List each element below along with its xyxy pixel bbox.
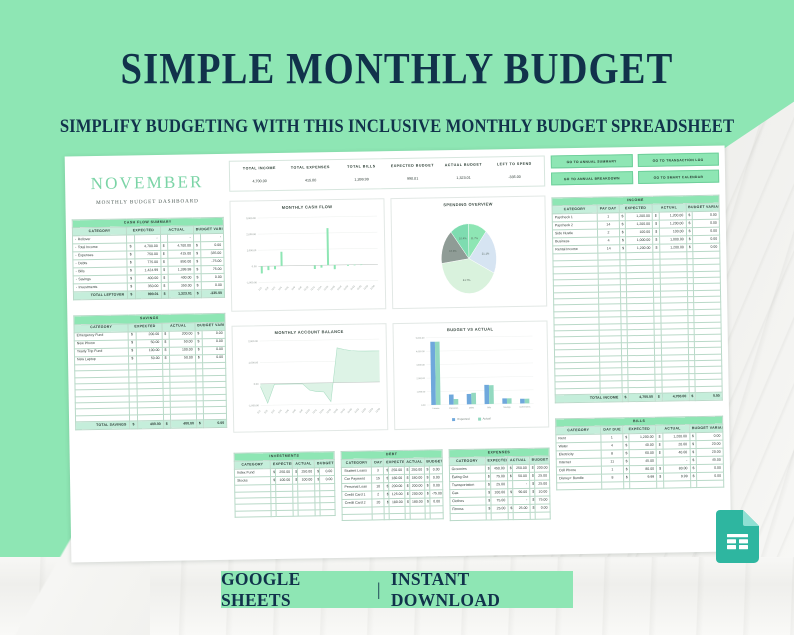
svg-text:4,000.00: 4,000.00 bbox=[416, 351, 425, 353]
chart-title: MONTHLY CASH FLOW bbox=[234, 203, 381, 210]
chart-budget-vs-actual: BUDGET VS ACTUAL 0.001,000.002,000.003,0… bbox=[392, 321, 549, 431]
currency-symbol: $ bbox=[127, 251, 135, 259]
chart-title: BUDGET VS ACTUAL bbox=[397, 326, 544, 333]
savings-table: SAVINGS CATEGORY EXPECTED ACTUAL BUDGET … bbox=[73, 313, 227, 430]
currency-symbol bbox=[193, 234, 201, 242]
currency-symbol: $ bbox=[128, 283, 136, 291]
currency-symbol: $ bbox=[194, 258, 202, 266]
cell-empty bbox=[342, 514, 372, 521]
currency-symbol: $ bbox=[127, 243, 135, 251]
svg-text:11/3: 11/3 bbox=[272, 286, 277, 291]
summary-label: TOTAL INCOME bbox=[234, 166, 285, 171]
svg-text:1,000.00: 1,000.00 bbox=[249, 361, 259, 364]
cash-flow-summary-table: CASH FLOW SUMMARY CATEGORY EXPECTED ACTU… bbox=[72, 217, 225, 301]
currency-symbol: $ bbox=[195, 330, 203, 338]
cell-variance: 200.00 bbox=[534, 464, 549, 472]
debt-table: DEBT CATEGORY DAY DUE EXPECTED ACTUAL BU… bbox=[341, 449, 443, 521]
cell-actual: 180.00 bbox=[409, 474, 424, 482]
summary-value: 990.01 bbox=[387, 176, 438, 181]
bills-table: BILLS CATEGORY DAY DUE EXPECTED ACTUAL B… bbox=[555, 416, 724, 491]
svg-text:11/4: 11/4 bbox=[278, 286, 283, 291]
svg-text:11/25: 11/25 bbox=[362, 408, 368, 414]
debt-body: Student Loans3$250.00$250.00$0.00Car Pay… bbox=[342, 466, 443, 521]
navigation-buttons: GO TO ANNUAL SUMMARY GO TO TRANSACTION L… bbox=[551, 153, 719, 186]
svg-text:11/2: 11/2 bbox=[264, 410, 269, 415]
total-expected: 990.01 bbox=[135, 291, 161, 299]
bullet-icon: • bbox=[75, 237, 78, 241]
svg-text:11/30: 11/30 bbox=[376, 408, 382, 414]
table-row-empty bbox=[342, 512, 442, 520]
savings-total-row: TOTAL SAVINGS $ 400.00 $ 400.00 $ 0.00 bbox=[76, 420, 227, 431]
svg-text:2,000.00: 2,000.00 bbox=[246, 233, 256, 236]
total-label: TOTAL INCOME bbox=[555, 394, 622, 403]
col-day-due: DAY DUE bbox=[372, 459, 384, 467]
bills-body: Rent1$1,200.00$1,200.00$0.00Water4$40.00… bbox=[556, 432, 724, 489]
currency-symbol: $ bbox=[160, 259, 168, 267]
svg-text:2,000.00: 2,000.00 bbox=[248, 340, 258, 343]
currency-symbol bbox=[160, 234, 168, 242]
cell-actual: - bbox=[512, 481, 529, 489]
currency-symbol: $ bbox=[128, 275, 136, 283]
svg-text:11/14: 11/14 bbox=[317, 286, 323, 292]
summary-strip: TOTAL INCOME 4,700.00 TOTAL EXPENSES 415… bbox=[229, 156, 545, 192]
summary-value: 1,323.01 bbox=[438, 175, 489, 180]
banner-left-label: GOOGLE SHEETS bbox=[221, 569, 367, 611]
svg-text:11.7%: 11.7% bbox=[471, 236, 479, 240]
cell-variance: 10.00 bbox=[535, 488, 550, 496]
total-variance: -335.00 bbox=[202, 290, 225, 298]
bullet-icon: • bbox=[76, 269, 79, 273]
cell-variance: 0.00 bbox=[320, 476, 335, 484]
cell-variance: 0.00 bbox=[535, 504, 550, 512]
total-variance: 0.00 bbox=[204, 420, 227, 428]
svg-text:11/5: 11/5 bbox=[285, 286, 290, 291]
svg-text:11/22: 11/22 bbox=[350, 285, 356, 291]
income-table: INCOME CATEGORY PAY DAY EXPECTED ACTUAL … bbox=[551, 195, 722, 404]
currency-symbol: $ bbox=[161, 267, 169, 275]
cell-actual: 250.00 bbox=[409, 466, 424, 474]
svg-text:11/3: 11/3 bbox=[271, 409, 276, 414]
currency-symbol: $ bbox=[161, 283, 169, 291]
cell-day: 2 bbox=[372, 491, 384, 499]
summary-cell: LEFT TO SPEND -335.00 bbox=[489, 162, 540, 180]
total-expected: 4,700.00 bbox=[629, 393, 656, 401]
cell-empty bbox=[513, 513, 530, 520]
summary-value: -335.00 bbox=[489, 175, 540, 180]
cell-expected: 180.00 bbox=[389, 475, 404, 483]
svg-text:11/10: 11/10 bbox=[304, 286, 310, 292]
legend-item: Actual bbox=[478, 416, 491, 420]
cell-day: 10 bbox=[372, 483, 384, 491]
currency-symbol: $ bbox=[195, 354, 203, 362]
currency-symbol: $ bbox=[127, 259, 135, 267]
svg-text:11/4: 11/4 bbox=[278, 409, 283, 414]
currency-symbol: $ bbox=[194, 290, 202, 298]
svg-text:11/1: 11/1 bbox=[258, 287, 263, 292]
svg-text:11/18: 11/18 bbox=[337, 285, 343, 291]
middle-column: TOTAL INCOME 4,700.00 TOTAL EXPENSES 415… bbox=[229, 156, 551, 554]
cell-variance: 25.00 bbox=[535, 480, 550, 488]
cell-actual: 250.00 bbox=[512, 464, 529, 472]
total-expected: 400.00 bbox=[137, 421, 163, 429]
investments-block: INVESTMENTS CATEGORY EXPECTED ACTUAL BUD… bbox=[234, 451, 337, 524]
cell-actual: 200.00 bbox=[409, 482, 424, 490]
svg-text:11/8: 11/8 bbox=[299, 409, 304, 414]
expenses-body: Groceries$450.00$250.00$200.00Eating Out… bbox=[449, 464, 550, 520]
table-row-empty bbox=[235, 509, 335, 517]
cell-actual: 250.00 bbox=[298, 468, 315, 476]
currency-symbol: $ bbox=[194, 282, 202, 290]
cell-empty bbox=[535, 512, 550, 519]
cell-day: 3 bbox=[372, 467, 384, 475]
cell-empty bbox=[663, 481, 690, 488]
spreadsheet-page: NOVEMBER MONTHLY BUDGET DASHBOARD CASH F… bbox=[65, 146, 732, 563]
total-variance: 0.00 bbox=[695, 392, 722, 400]
svg-text:0.00: 0.00 bbox=[252, 265, 257, 268]
expenses-block: EXPENSES CATEGORY EXPECTED ACTUAL BUDGET… bbox=[448, 448, 551, 521]
bullet-icon: • bbox=[75, 253, 78, 257]
cell-expected: 75.00 bbox=[491, 497, 508, 505]
bullet-icon: • bbox=[76, 285, 79, 289]
cell-variance: 0.00 bbox=[429, 474, 442, 482]
charts-row-bottom: MONTHLY ACCOUNT BALANCE -1,000.000.001,0… bbox=[232, 321, 550, 433]
summary-cell: EXPECTED BUDGET 990.01 bbox=[387, 163, 438, 181]
svg-text:Debts: Debts bbox=[469, 406, 474, 409]
cell-expected: 250.00 bbox=[389, 467, 404, 475]
chart-title: SPENDING OVERVIEW bbox=[394, 201, 541, 208]
legend-item: Expected bbox=[452, 417, 469, 421]
cell-expected: 100.00 bbox=[491, 489, 508, 497]
cell-empty bbox=[410, 513, 425, 520]
svg-text:1,000.00: 1,000.00 bbox=[417, 391, 426, 393]
cell-variance: 25.00 bbox=[534, 472, 549, 480]
currency-symbol: $ bbox=[128, 291, 136, 299]
svg-text:11/8: 11/8 bbox=[298, 286, 303, 291]
svg-text:3,000.00: 3,000.00 bbox=[416, 365, 425, 367]
svg-text:0.00: 0.00 bbox=[254, 383, 259, 386]
summary-cell: TOTAL BILLS 1,399.99 bbox=[336, 164, 387, 182]
cell-empty bbox=[235, 510, 271, 517]
svg-text:11/28: 11/28 bbox=[369, 408, 375, 414]
summary-cell: TOTAL INCOME 4,700.00 bbox=[234, 166, 285, 184]
svg-text:11/1: 11/1 bbox=[257, 410, 262, 415]
svg-text:11/15: 11/15 bbox=[324, 285, 330, 291]
cell-empty bbox=[557, 482, 602, 489]
table-row-empty bbox=[450, 512, 550, 520]
summary-value: 1,399.99 bbox=[336, 177, 387, 182]
left-column: NOVEMBER MONTHLY BUDGET DASHBOARD CASH F… bbox=[71, 161, 229, 556]
currency-symbol: $ bbox=[129, 347, 137, 355]
svg-text:11/10: 11/10 bbox=[305, 409, 311, 415]
expenses-table: EXPENSES CATEGORY EXPECTED ACTUAL BUDGET… bbox=[448, 448, 551, 521]
svg-text:11/6: 11/6 bbox=[292, 409, 297, 414]
cell-empty bbox=[373, 513, 385, 520]
cell-actual: 90.00 bbox=[513, 489, 530, 497]
investments-table: INVESTMENTS CATEGORY EXPECTED ACTUAL BUD… bbox=[234, 451, 336, 518]
svg-text:41.7%: 41.7% bbox=[463, 278, 471, 282]
cell-empty bbox=[430, 512, 443, 519]
currency-symbol: $ bbox=[195, 338, 203, 346]
summary-value: 415.00 bbox=[285, 178, 336, 183]
bullet-icon: • bbox=[75, 261, 78, 265]
cell-variance: 0.00 bbox=[429, 498, 442, 506]
cell-expected: 250.00 bbox=[276, 468, 293, 476]
cell-variance: 0.00 bbox=[429, 482, 442, 490]
page-subtitle: SIMPLIFY BUDGETING WITH THIS INCLUSIVE M… bbox=[40, 117, 755, 138]
currency-symbol: $ bbox=[194, 250, 202, 258]
summary-value: 4,700.00 bbox=[234, 179, 285, 184]
currency-symbol: $ bbox=[162, 355, 170, 363]
currency-symbol: $ bbox=[160, 242, 168, 250]
cell-variance: 75.00 bbox=[535, 496, 550, 504]
currency-symbol: $ bbox=[162, 331, 170, 339]
cell-expected: 100.00 bbox=[276, 476, 293, 484]
cash-flow-total-row: TOTAL LEFTOVER $ 990.01 $ 1,323.01 $ -33… bbox=[73, 290, 224, 301]
total-actual: 400.00 bbox=[171, 420, 197, 428]
cell-actual: - bbox=[513, 497, 530, 505]
cell-expected: 200.00 bbox=[389, 483, 404, 491]
currency-symbol: $ bbox=[128, 331, 136, 339]
currency-symbol: $ bbox=[163, 421, 171, 429]
svg-text:11/6: 11/6 bbox=[292, 286, 297, 291]
chart-monthly-cash-flow: MONTHLY CASH FLOW -1,000.000.001,000.002… bbox=[229, 198, 386, 312]
cell-day: 15 bbox=[372, 475, 384, 483]
cell-empty bbox=[491, 513, 508, 520]
currency-symbol: $ bbox=[194, 274, 202, 282]
cash-flow-body: •Rollover---•Total Income$4,700.00$4,700… bbox=[72, 233, 224, 292]
cell-actual: 100.00 bbox=[298, 476, 315, 484]
chart-spending-overview: SPENDING OVERVIEW 11.7%21.1%41.7%16.9%10… bbox=[390, 196, 547, 310]
svg-text:11/28: 11/28 bbox=[364, 285, 370, 291]
legend-label: Expected bbox=[457, 417, 469, 421]
svg-text:11/5: 11/5 bbox=[285, 409, 290, 414]
svg-text:11/15: 11/15 bbox=[326, 408, 332, 414]
legend-swatch-actual bbox=[478, 417, 481, 420]
debt-block: DEBT CATEGORY DAY DUE EXPECTED ACTUAL BU… bbox=[341, 449, 444, 522]
cell-empty bbox=[450, 513, 486, 520]
summary-label: TOTAL BILLS bbox=[336, 164, 387, 169]
svg-text:11/22: 11/22 bbox=[355, 408, 361, 414]
cell-variance: 0.00 bbox=[429, 466, 442, 474]
plot-area: -1,000.000.001,000.002,000.003,000.0011/… bbox=[234, 210, 383, 308]
svg-text:16.9%: 16.9% bbox=[449, 249, 457, 253]
total-label: TOTAL LEFTOVER bbox=[73, 291, 128, 300]
svg-text:11/25: 11/25 bbox=[357, 285, 363, 291]
summary-label: ACTUAL BUDGET bbox=[438, 162, 489, 167]
month-header-block: NOVEMBER MONTHLY BUDGET DASHBOARD bbox=[71, 161, 224, 214]
income-body: Paycheck 11$1,200.00$1,200.00$0.00Payche… bbox=[552, 211, 722, 395]
chart-title: MONTHLY ACCOUNT BALANCE bbox=[236, 328, 383, 335]
svg-text:Expenses: Expenses bbox=[449, 408, 458, 410]
cell-actual: 200.00 bbox=[409, 490, 424, 498]
table-row-empty bbox=[557, 480, 724, 489]
cell-expected: 125.00 bbox=[389, 491, 404, 499]
currency-symbol: $ bbox=[195, 346, 203, 354]
currency-symbol bbox=[127, 235, 135, 243]
svg-text:Income: Income bbox=[433, 408, 441, 410]
total-label: TOTAL SAVINGS bbox=[76, 421, 131, 430]
charts-row-top: MONTHLY CASH FLOW -1,000.000.001,000.002… bbox=[229, 196, 547, 312]
savings-body: Emergency Fund$200.00$200.00$0.00New Pho… bbox=[74, 330, 226, 422]
currency-symbol: $ bbox=[129, 339, 137, 347]
plot-area: 11.7%21.1%41.7%16.9%10.4% bbox=[395, 208, 544, 306]
legend-label: Actual bbox=[483, 416, 491, 420]
svg-text:0.00: 0.00 bbox=[421, 405, 426, 407]
currency-symbol: $ bbox=[162, 339, 170, 347]
legend-swatch-expected bbox=[452, 418, 455, 421]
svg-text:11/16: 11/16 bbox=[330, 285, 336, 291]
google-sheets-icon bbox=[716, 510, 759, 563]
currency-symbol: $ bbox=[194, 266, 202, 274]
currency-symbol: $ bbox=[160, 250, 168, 258]
svg-text:-1,000.00: -1,000.00 bbox=[246, 281, 257, 284]
cell-empty bbox=[298, 510, 315, 517]
svg-text:11/16: 11/16 bbox=[334, 408, 340, 414]
footer-banner: GOOGLE SHEETS | INSTANT DOWNLOAD bbox=[221, 571, 573, 608]
plot-area: -1,000.000.001,000.002,000.0011/111/211/… bbox=[236, 335, 385, 429]
investments-body: Index Fund$250.00$250.00$0.00Stocks$100.… bbox=[234, 468, 335, 518]
go-to-annual-summary-button[interactable]: GO TO ANNUAL SUMMARY bbox=[551, 154, 633, 168]
cell-day: 20 bbox=[372, 499, 384, 507]
month-subtitle: MONTHLY BUDGET DASHBOARD bbox=[71, 198, 223, 207]
svg-text:11/11: 11/11 bbox=[313, 409, 319, 415]
svg-text:11/20: 11/20 bbox=[348, 408, 354, 414]
cell-empty bbox=[602, 482, 624, 489]
bullet-icon: • bbox=[76, 277, 79, 281]
svg-text:21.1%: 21.1% bbox=[482, 251, 490, 255]
cell-variance: -75.00 bbox=[429, 490, 442, 498]
go-to-annual-breakdown-button[interactable]: GO TO ANNUAL BREAKDOWN bbox=[551, 171, 633, 185]
svg-text:Bills: Bills bbox=[487, 407, 491, 409]
cell-expected: 180.00 bbox=[389, 499, 404, 507]
go-to-transaction-log-button[interactable]: GO TO TRANSACTION LOG bbox=[637, 153, 719, 167]
currency-symbol: $ bbox=[130, 421, 138, 429]
svg-text:11/2: 11/2 bbox=[265, 286, 270, 291]
currency-symbol: $ bbox=[162, 347, 170, 355]
cell-empty bbox=[630, 482, 657, 489]
svg-text:11/18: 11/18 bbox=[341, 408, 347, 414]
banner-right-label: INSTANT DOWNLOAD bbox=[391, 569, 573, 611]
page-title: SIMPLE MONTHLY BUDGET bbox=[48, 43, 747, 94]
summary-label: EXPECTED BUDGET bbox=[387, 163, 438, 168]
summary-cell: ACTUAL BUDGET 1,323.01 bbox=[438, 162, 489, 180]
income-total-row: TOTAL INCOME $ 4,700.00 $ 4,700.00 $ 0.0… bbox=[555, 392, 722, 403]
cell-empty bbox=[320, 509, 335, 516]
right-column: GO TO ANNUAL SUMMARY GO TO TRANSACTION L… bbox=[551, 153, 725, 549]
cell-actual: 180.00 bbox=[409, 498, 424, 506]
plot-area: 0.001,000.002,000.003,000.004,000.005,00… bbox=[397, 333, 545, 417]
svg-text:1,000.00: 1,000.00 bbox=[247, 249, 257, 252]
summary-label: LEFT TO SPEND bbox=[489, 162, 540, 167]
svg-text:10.4%: 10.4% bbox=[459, 236, 467, 240]
currency-symbol: $ bbox=[161, 291, 169, 299]
banner-separator: | bbox=[377, 579, 381, 600]
currency-symbol: $ bbox=[127, 267, 135, 275]
bullet-icon: • bbox=[75, 245, 78, 249]
summary-label: TOTAL EXPENSES bbox=[285, 165, 336, 170]
svg-text:2,000.00: 2,000.00 bbox=[416, 378, 425, 380]
spreadsheet-mockup: NOVEMBER MONTHLY BUDGET DASHBOARD CASH F… bbox=[65, 146, 732, 563]
currency-symbol: $ bbox=[196, 420, 204, 428]
svg-text:11/20: 11/20 bbox=[344, 285, 350, 291]
month-title: NOVEMBER bbox=[71, 161, 223, 195]
cell-empty bbox=[697, 480, 724, 487]
svg-text:3,000.00: 3,000.00 bbox=[246, 217, 256, 220]
bottom-tables-row: INVESTMENTS CATEGORY EXPECTED ACTUAL BUD… bbox=[234, 447, 551, 524]
cell-variance: 0.00 bbox=[320, 468, 335, 476]
cell-expected: 25.00 bbox=[491, 505, 508, 513]
chart-monthly-account-balance: MONTHLY ACCOUNT BALANCE -1,000.000.001,0… bbox=[232, 323, 389, 433]
cell-actual: 50.00 bbox=[512, 472, 529, 480]
currency-symbol: $ bbox=[129, 356, 137, 364]
svg-text:Investments: Investments bbox=[519, 405, 530, 408]
total-actual: 1,323.01 bbox=[169, 290, 195, 298]
svg-text:11/11: 11/11 bbox=[311, 286, 317, 292]
go-to-smart-calendar-button[interactable]: GO TO SMART CALENDAR bbox=[637, 170, 719, 184]
svg-text:11/14: 11/14 bbox=[319, 409, 325, 415]
svg-text:Savings: Savings bbox=[503, 407, 510, 409]
svg-text:11/30: 11/30 bbox=[370, 285, 376, 291]
cell-empty bbox=[276, 510, 293, 517]
svg-text:5,000.00: 5,000.00 bbox=[416, 338, 425, 340]
currency-symbol: $ bbox=[193, 242, 201, 250]
svg-text:-1,000.00: -1,000.00 bbox=[248, 404, 259, 407]
cell-empty bbox=[390, 513, 405, 520]
summary-cell: TOTAL EXPENSES 415.00 bbox=[285, 165, 336, 183]
currency-symbol: $ bbox=[161, 275, 169, 283]
total-actual: 4,700.00 bbox=[662, 393, 689, 401]
